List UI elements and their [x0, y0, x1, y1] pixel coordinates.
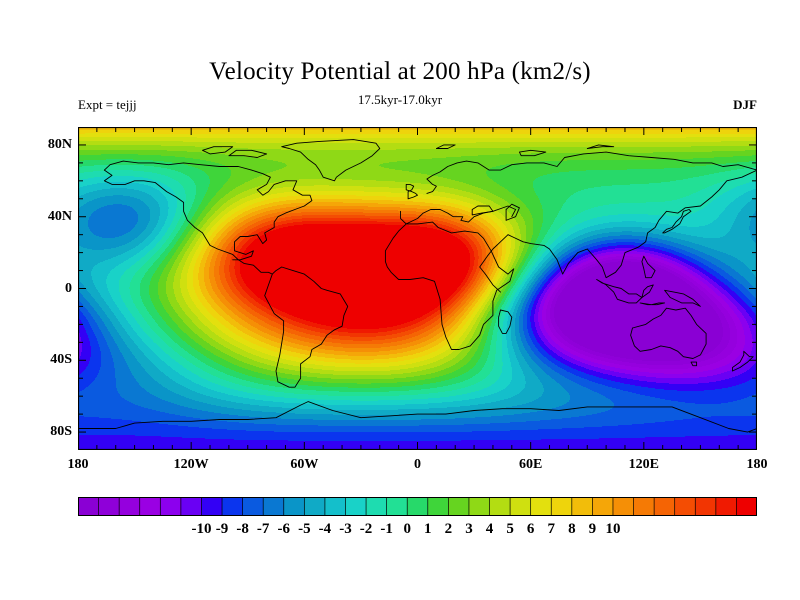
colorbar-cell	[448, 497, 469, 516]
colorbar-tick-label: 10	[583, 522, 643, 537]
colorbar-cell	[366, 497, 387, 516]
colorbar-cell	[181, 497, 202, 516]
colorbar-cell	[634, 497, 655, 516]
y-tick-label: 80N	[12, 138, 72, 152]
colorbar-cell	[675, 497, 696, 516]
colorbar-cell	[119, 497, 140, 516]
colorbar-cell	[695, 497, 716, 516]
colorbar-cell	[572, 497, 593, 516]
colorbar-cell	[592, 497, 613, 516]
colorbar-cell	[407, 497, 428, 516]
page-title: Velocity Potential at 200 hPa (km2/s)	[0, 58, 800, 86]
colorbar-swatches	[78, 497, 757, 516]
colorbar-cell	[736, 497, 757, 516]
season-label: DJF	[733, 97, 757, 112]
velocity-potential-figure: Velocity Potential at 200 hPa (km2/s) 17…	[0, 0, 800, 600]
colorbar-cell	[716, 497, 737, 516]
y-tick-label: 80S	[12, 425, 72, 439]
x-tick-label: 180	[717, 458, 797, 472]
velocity-potential-map	[78, 127, 757, 450]
colorbar-cell	[490, 497, 511, 516]
colorbar-cell	[551, 497, 572, 516]
colorbar-cell	[510, 497, 531, 516]
colorbar-cell	[201, 497, 222, 516]
x-tick-label: 120E	[604, 458, 684, 472]
colorbar-cell	[78, 497, 99, 516]
colorbar-cell	[284, 497, 305, 516]
colorbar-cell	[613, 497, 634, 516]
colorbar-cell	[387, 497, 408, 516]
colorbar-cell	[243, 497, 264, 516]
colorbar-cell	[654, 497, 675, 516]
x-tick-label: 60W	[264, 458, 344, 472]
colorbar-cell	[304, 497, 325, 516]
y-tick-label: 0	[12, 282, 72, 296]
x-tick-label: 120W	[151, 458, 231, 472]
x-tick-label: 180	[38, 458, 118, 472]
colorbar-cell	[428, 497, 449, 516]
map-panel	[78, 127, 757, 450]
colorbar-cell	[345, 497, 366, 516]
colorbar-cell	[325, 497, 346, 516]
colorbar-cell	[469, 497, 490, 516]
colorbar-cell	[140, 497, 161, 516]
colorbar-cell	[99, 497, 120, 516]
colorbar-cell	[160, 497, 181, 516]
colorbar-cell	[263, 497, 284, 516]
colorbar	[78, 497, 757, 516]
y-tick-label: 40N	[12, 210, 72, 224]
experiment-label: Expt = tejjj	[78, 97, 137, 112]
colorbar-cell	[531, 497, 552, 516]
colorbar-cell	[222, 497, 243, 516]
x-tick-label: 0	[378, 458, 458, 472]
x-tick-label: 60E	[491, 458, 571, 472]
y-tick-label: 40S	[12, 353, 72, 367]
